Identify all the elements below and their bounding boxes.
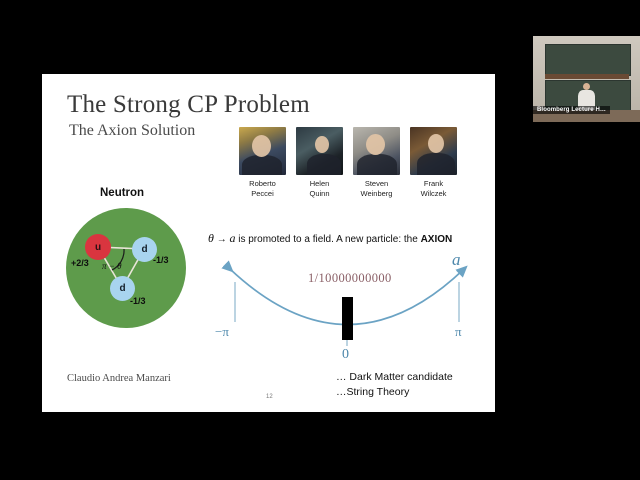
- speaker-head: [583, 83, 590, 90]
- portrait-card: Frank Wilczek: [410, 127, 457, 198]
- physicist-portrait-group: Roberto Peccei Helen Quinn: [239, 127, 457, 198]
- portrait-card: Roberto Peccei: [239, 127, 286, 198]
- portrait-name: Frank Wilczek: [410, 179, 457, 198]
- webcam-name-label: Bloomberg Lecture H…: [533, 106, 610, 114]
- video-frame: The Strong CP Problem The Axion Solution…: [0, 0, 640, 480]
- theta-symbol: θ: [208, 231, 214, 245]
- neutron-diagram: u d d +2/3 -1/3 -1/3 π − θ: [66, 208, 186, 328]
- chalkboard-rail: [545, 74, 629, 79]
- bullet-string-theory: …String Theory: [336, 385, 453, 400]
- portrait-photo: [296, 127, 343, 175]
- quark-bond-lines: [66, 208, 186, 328]
- portrait-name: Helen Quinn: [296, 179, 343, 198]
- portrait-name: Roberto Peccei: [239, 179, 286, 198]
- angle-annotation: π − θ: [102, 261, 122, 271]
- slide-author: Claudio Andrea Manzari: [67, 373, 171, 384]
- portrait-body-shape: [242, 155, 282, 175]
- portrait-body-shape: [417, 153, 455, 175]
- portrait-last-name: Wilczek: [421, 189, 447, 198]
- quark-up: u: [85, 234, 111, 260]
- portrait-body-shape: [307, 154, 341, 175]
- portrait-last-name: Quinn: [309, 189, 329, 198]
- portrait-face-shape: [252, 135, 271, 157]
- potential-left-tick: −π: [215, 324, 229, 340]
- speaker-webcam-tile[interactable]: Bloomberg Lecture H…: [533, 36, 640, 122]
- suppression-fraction-label: 1/10000000000: [308, 271, 392, 286]
- portrait-first-name: Steven: [365, 179, 388, 188]
- portrait-photo: [353, 127, 400, 175]
- axion-potential-plot: 1/10000000000 a −π π 0: [202, 250, 487, 370]
- potential-right-tick: π: [455, 324, 462, 340]
- portrait-face-shape: [315, 136, 329, 153]
- slide-title: The Strong CP Problem: [67, 91, 310, 119]
- implications-list: … Dark Matter candidate …String Theory: [336, 370, 453, 400]
- portrait-body-shape: [357, 154, 397, 175]
- axion-statement-text: is promoted to a field. A new particle: …: [235, 234, 420, 245]
- portrait-name: Steven Weinberg: [353, 179, 400, 198]
- potential-minimum-marker: [342, 297, 353, 340]
- potential-center-tick: 0: [342, 347, 349, 363]
- bullet-dark-matter: … Dark Matter candidate: [336, 370, 453, 385]
- axion-statement: θ → a is promoted to a field. A new part…: [208, 231, 452, 246]
- portrait-face-shape: [366, 134, 385, 155]
- portrait-first-name: Helen: [310, 179, 330, 188]
- portrait-first-name: Roberto: [249, 179, 276, 188]
- portrait-last-name: Peccei: [251, 189, 274, 198]
- neutron-heading: Neutron: [100, 187, 144, 199]
- slide-subtitle: The Axion Solution: [69, 122, 195, 140]
- portrait-photo: [410, 127, 457, 175]
- axion-axis-label: a: [452, 250, 461, 270]
- chalkboard-upper: [545, 44, 631, 76]
- presentation-slide: The Strong CP Problem The Axion Solution…: [42, 74, 495, 412]
- portrait-first-name: Frank: [424, 179, 443, 188]
- portrait-last-name: Weinberg: [361, 189, 393, 198]
- slide-number: 12: [266, 394, 273, 400]
- arrow-symbol: →: [217, 234, 227, 245]
- quark-down-2-charge: -1/3: [130, 296, 146, 306]
- quark-up-charge: +2/3: [71, 258, 89, 268]
- portrait-card: Helen Quinn: [296, 127, 343, 198]
- portrait-photo: [239, 127, 286, 175]
- portrait-card: Steven Weinberg: [353, 127, 400, 198]
- quark-down-1-charge: -1/3: [153, 255, 169, 265]
- axion-keyword: AXION: [421, 234, 453, 245]
- portrait-face-shape: [428, 134, 444, 153]
